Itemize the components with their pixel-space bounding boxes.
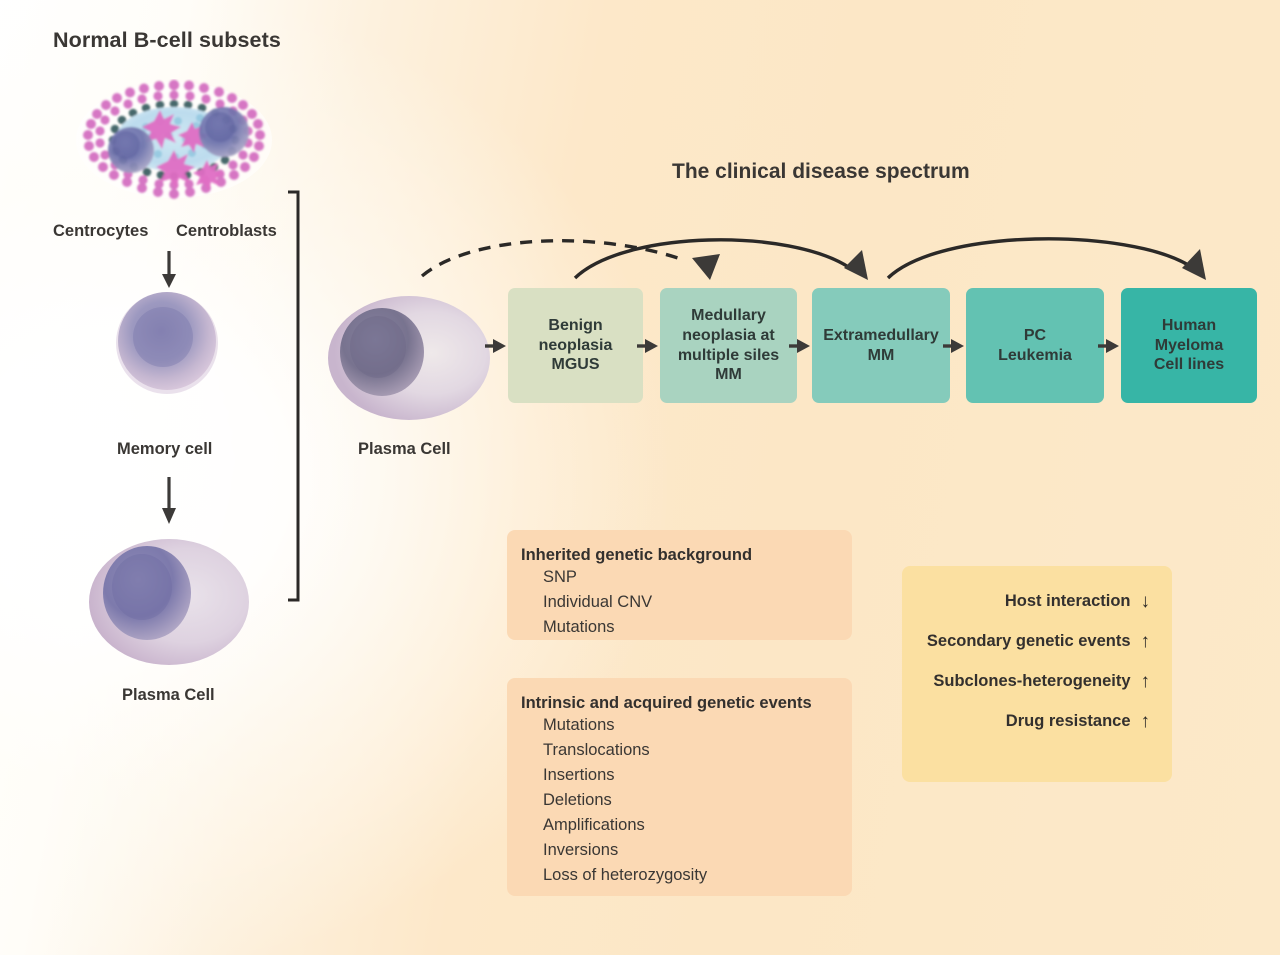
arrow-up-icon: ↑: [1141, 632, 1151, 651]
label-plasma-cell-left: Plasma Cell: [122, 686, 215, 705]
arrow-to-memory-cell: [160, 251, 178, 289]
arrowhead-solid-1: [844, 250, 868, 280]
spectrum-box-pc-leukemia[interactable]: PC Leukemia: [966, 288, 1104, 403]
label-plasma-cell-middle: Plasma Cell: [358, 440, 451, 459]
spectrum-box-medullary-mm[interactable]: Medullary neoplasia at multiple siles MM: [660, 288, 797, 403]
panel-list-item: Deletions: [543, 788, 852, 813]
memory-cell-illustration: [113, 287, 221, 395]
arrow-box-1-to-box-2: [637, 336, 659, 356]
arrow-up-icon: ↑: [1141, 712, 1151, 731]
spectrum-box-human-myeloma-cell-lines[interactable]: Human Myeloma Cell lines: [1121, 288, 1257, 403]
arrow-box-4-to-box-5: [1098, 336, 1120, 356]
spectrum-box-benign-mgus[interactable]: Benign neoplasia MGUS: [508, 288, 643, 403]
arc-solid-2: [888, 239, 1190, 278]
panel-list-item: Amplifications: [543, 813, 852, 838]
right-section-heading: The clinical disease spectrum: [672, 160, 970, 184]
panel-host-interaction: Host interaction ↓ Secondary genetic eve…: [902, 566, 1172, 782]
panel-list-item: SNP: [543, 565, 852, 590]
arrow-to-plasma-cell: [160, 477, 178, 525]
spectrum-box-label: Benign neoplasia MGUS: [539, 316, 613, 375]
host-row: Secondary genetic events ↑: [902, 632, 1150, 651]
host-row: Drug resistance ↑: [902, 712, 1150, 731]
panel-list-item: Translocations: [543, 738, 852, 763]
spectrum-box-label: Human Myeloma Cell lines: [1154, 316, 1224, 375]
arrow-plasma-to-box-1: [485, 336, 507, 356]
arrow-up-icon: ↑: [1141, 672, 1151, 691]
left-section-heading: Normal B-cell subsets: [53, 28, 281, 53]
arc-dashed: [422, 241, 678, 276]
panel-title: Inherited genetic background: [521, 546, 852, 565]
host-row-label: Host interaction: [1005, 592, 1131, 611]
germinal-center-illustration: [74, 79, 274, 201]
spectrum-box-label: PC Leukemia: [998, 326, 1072, 365]
panel-list-item: Mutations: [543, 713, 852, 738]
panel-list-item: Individual CNV: [543, 590, 852, 615]
panel-title: Intrinsic and acquired genetic events: [521, 694, 852, 713]
host-row: Host interaction ↓: [902, 592, 1150, 611]
label-memory-cell: Memory cell: [117, 440, 212, 459]
host-row-label: Drug resistance: [1006, 712, 1131, 731]
arrow-box-3-to-box-4: [943, 336, 965, 356]
host-row: Subclones-heterogeneity ↑: [902, 672, 1150, 691]
arrowhead-dashed: [692, 254, 720, 280]
label-centroblasts: Centroblasts: [176, 222, 277, 241]
figure-canvas: Normal B-cell subsets The clinical disea…: [0, 0, 1280, 955]
grouping-bracket: [286, 190, 302, 602]
spectrum-box-extramedullary-mm[interactable]: Extramedullary MM: [812, 288, 950, 403]
panel-list-item: Mutations: [543, 615, 852, 640]
host-row-label: Secondary genetic events: [927, 632, 1131, 651]
panel-intrinsic-acquired-genetic-events: Intrinsic and acquired genetic events Mu…: [507, 678, 852, 896]
plasma-cell-illustration-middle: [326, 292, 492, 424]
label-centrocytes: Centrocytes: [53, 222, 148, 241]
spectrum-box-label: Extramedullary MM: [823, 326, 939, 365]
plasma-cell-illustration-left: [86, 535, 252, 668]
arrowhead-solid-2: [1182, 249, 1206, 280]
arrow-down-icon: ↓: [1141, 592, 1151, 611]
panel-list-item: Loss of heterozygosity: [543, 863, 852, 888]
panel-list-item: Insertions: [543, 763, 852, 788]
spectrum-box-label: Medullary neoplasia at multiple siles MM: [678, 306, 779, 385]
panel-inherited-genetic-background: Inherited genetic background SNP Individ…: [507, 530, 852, 640]
arrow-box-2-to-box-3: [789, 336, 811, 356]
panel-list-item: Inversions: [543, 838, 852, 863]
host-row-label: Subclones-heterogeneity: [933, 672, 1130, 691]
